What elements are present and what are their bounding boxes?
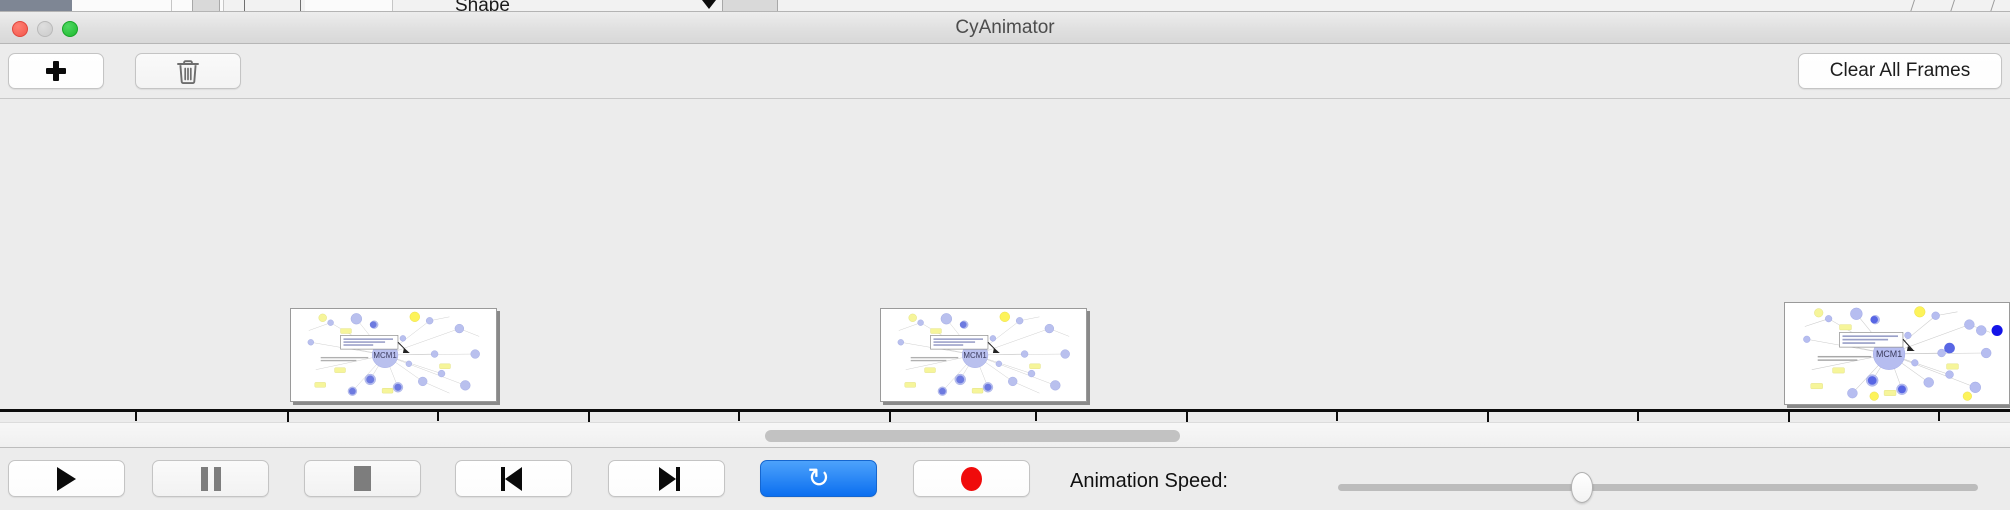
animation-speed-label: Animation Speed:	[1070, 470, 1228, 493]
background-slab	[722, 0, 778, 12]
cyanimator-window: CyAnimator Clear All Frames	[0, 12, 2010, 510]
background-divider	[1950, 0, 1955, 12]
plus-icon	[46, 61, 66, 81]
background-divider	[244, 0, 245, 12]
timeline-tick-major	[1487, 412, 1489, 422]
play-button[interactable]	[8, 460, 125, 497]
stop-button[interactable]	[304, 460, 421, 497]
background-window-label: Shape	[455, 0, 510, 12]
network-thumbnail-image: MCM1	[1785, 303, 2009, 404]
timeline-tick-minor	[1336, 412, 1338, 421]
keyframe-thumbnail[interactable]: MCM1	[880, 308, 1087, 402]
background-divider	[300, 0, 301, 12]
delete-frame-button[interactable]	[135, 53, 241, 89]
skip-end-icon	[654, 467, 680, 491]
background-tab	[305, 0, 393, 12]
loop-button[interactable]: ↻	[760, 460, 877, 497]
timeline-tick-major	[889, 412, 891, 422]
timeline-tick-minor	[1637, 412, 1639, 421]
skip-to-end-button[interactable]	[608, 460, 725, 497]
background-window-strip: Shape	[0, 0, 2010, 12]
network-thumbnail-image: MCM1	[291, 309, 496, 401]
scrollbar-thumb[interactable]	[765, 430, 1180, 442]
keyframe-thumbnail[interactable]: MCM1	[290, 308, 497, 402]
timeline-axis-line	[0, 409, 2010, 412]
timeline-tick-minor	[1938, 412, 1940, 421]
pause-button[interactable]	[152, 460, 269, 497]
trash-icon	[176, 58, 200, 85]
playback-controls-bar: ↻ Animation Speed:	[0, 448, 2010, 510]
pause-icon	[201, 467, 221, 491]
network-thumbnail-image: MCM1	[881, 309, 1086, 401]
timeline-tick-major	[588, 412, 590, 422]
timeline-panel[interactable]: MCM1	[0, 99, 2010, 422]
frames-toolbar: Clear All Frames	[0, 44, 2010, 99]
background-slab	[192, 0, 220, 12]
play-icon	[57, 467, 76, 491]
add-frame-button[interactable]	[8, 53, 104, 89]
background-titlebar-chip	[0, 0, 72, 11]
keyframe-thumbnail[interactable]: MCM1	[1784, 302, 2010, 405]
clear-all-frames-button[interactable]: Clear All Frames	[1798, 53, 2002, 89]
timeline-tick-minor	[437, 412, 439, 421]
record-button[interactable]	[913, 460, 1030, 497]
window-title: CyAnimator	[0, 17, 2010, 39]
timeline-tick-minor	[135, 412, 137, 421]
timeline-horizontal-scrollbar[interactable]	[0, 422, 2010, 448]
stop-icon	[354, 466, 371, 491]
record-icon	[961, 467, 982, 491]
window-titlebar[interactable]: CyAnimator	[0, 12, 2010, 44]
skip-to-start-button[interactable]	[455, 460, 572, 497]
svg-text:MCM1: MCM1	[1876, 349, 1902, 359]
animation-speed-slider-thumb[interactable]	[1571, 472, 1593, 503]
svg-text:MCM1: MCM1	[963, 351, 986, 360]
animation-speed-slider[interactable]	[1338, 484, 1978, 491]
background-divider	[1990, 0, 1995, 12]
loop-icon: ↻	[807, 465, 830, 492]
svg-text:MCM1: MCM1	[373, 351, 396, 360]
background-cursor-notch	[702, 0, 716, 9]
timeline-tick-minor	[1035, 412, 1037, 421]
skip-start-icon	[501, 467, 527, 491]
background-divider	[1910, 0, 1915, 12]
background-tab	[72, 0, 172, 12]
timeline-tick-major	[287, 412, 289, 422]
timeline-tick-major	[1788, 412, 1790, 422]
timeline-tick-major	[1186, 412, 1188, 422]
timeline-tick-minor	[738, 412, 740, 421]
